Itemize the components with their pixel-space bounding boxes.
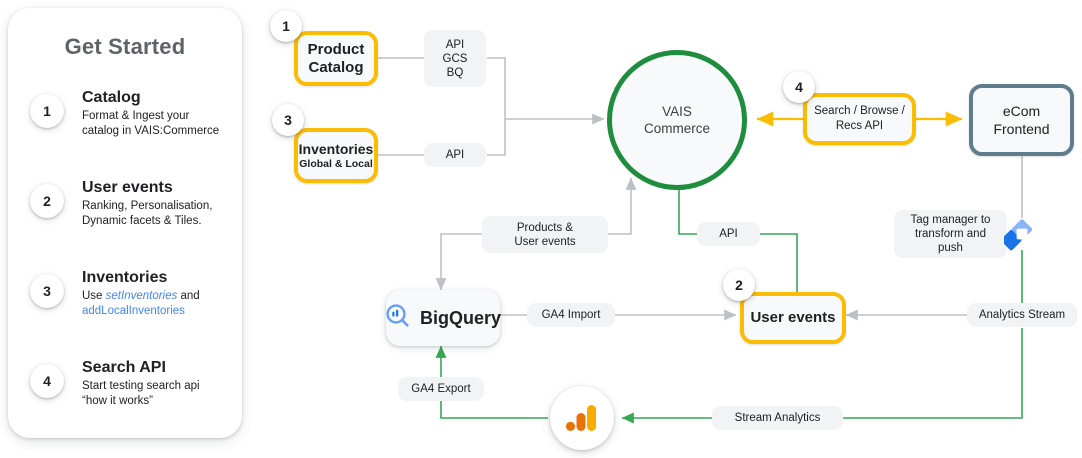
chip-ga4-import: GA4 Import (527, 303, 615, 327)
vais-line2: Commerce (644, 120, 710, 137)
chip-api-gcs-bq-line1: API (443, 38, 468, 52)
sidebar-step-search-api[interactable]: 4 Search API Start testing search api “h… (26, 358, 226, 432)
bigquery-icon (385, 303, 411, 334)
step-desc-catalog-line1: Format & Ingest your (82, 110, 189, 122)
product-catalog-line2: Catalog (308, 59, 365, 77)
google-analytics-icon (550, 386, 614, 450)
tag-manager-icon (1004, 216, 1040, 257)
search-api-line1: Search / Browse / (814, 104, 905, 119)
chip-ga4-export: GA4 Export (398, 377, 484, 401)
chip-tag-manager-line1: Tag manager to (911, 213, 991, 227)
vais-line1: VAIS (644, 103, 710, 120)
product-catalog-line1: Product (308, 41, 365, 59)
sidebar-step-user-events[interactable]: 2 User events Ranking, Personalisation, … (26, 178, 226, 252)
node-product-catalog[interactable]: Product Catalog (294, 31, 378, 86)
step-title-catalog: Catalog (82, 88, 238, 107)
chip-products-user-events-line1: Products & (514, 221, 575, 235)
diagram-badge-3: 3 (272, 104, 304, 136)
step-badge-3: 3 (30, 274, 64, 308)
node-vais-commerce[interactable]: VAIS Commerce (607, 50, 747, 190)
step-title-search-api: Search API (82, 358, 238, 377)
ecom-line1: eCom (993, 102, 1049, 120)
get-started-panel: Get Started 1 Catalog Format & Ingest yo… (8, 8, 242, 438)
ecom-line2: Frontend (993, 120, 1049, 138)
step-desc-inventories-prefix: Use (82, 290, 106, 302)
sidebar-step-inventories[interactable]: 3 Inventories Use setInventories and add… (26, 268, 226, 342)
panel-title: Get Started (8, 34, 242, 60)
diagram-badge-4: 4 (783, 71, 815, 103)
step-desc-inventories-mid: and (177, 290, 199, 302)
chip-api-gcs-bq-line3: BQ (443, 66, 468, 80)
step-title-user-events: User events (82, 178, 238, 197)
step-title-inventories: Inventories (82, 268, 238, 287)
chip-products-user-events-line2: User events (514, 235, 575, 249)
inventories-line1: Inventories (299, 140, 374, 158)
step-badge-2: 2 (30, 184, 64, 218)
sidebar-step-catalog[interactable]: 1 Catalog Format & Ingest your catalog i… (26, 88, 226, 162)
step-desc-search-api-line1: Start testing search api (82, 380, 200, 392)
chip-tag-manager-line3: push (911, 241, 991, 255)
diagram-canvas: Get Started 1 Catalog Format & Ingest yo… (0, 0, 1082, 458)
bigquery-label: BigQuery (420, 308, 501, 329)
step-desc-search-api-line2: “how it works” (82, 395, 153, 407)
chip-api-inventories: API (424, 143, 486, 167)
node-user-events[interactable]: User events (740, 292, 846, 344)
step-badge-4: 4 (30, 364, 64, 398)
chip-stream-analytics: Stream Analytics (712, 406, 843, 430)
node-bigquery[interactable]: BigQuery (386, 290, 500, 346)
inventories-line2: Global & Local (299, 158, 374, 171)
chip-api-gcs-bq-line2: GCS (443, 52, 468, 66)
step-desc-user-events-line2: Dynamic facets & Tiles. (82, 215, 202, 227)
step-desc-user-events-line1: Ranking, Personalisation, (82, 200, 212, 212)
chip-api-events: API (697, 222, 760, 246)
chip-tag-manager-note: Tag manager to transform and push (894, 210, 1007, 258)
link-set-inventories[interactable]: setInventories (106, 290, 178, 302)
step-desc-catalog-line2: catalog in VAIS:Commerce (82, 125, 219, 137)
chip-tag-manager-line2: transform and (911, 227, 991, 241)
node-ecom-frontend[interactable]: eCom Frontend (969, 84, 1074, 156)
node-search-browse-recs-api[interactable]: Search / Browse / Recs API (803, 93, 916, 145)
link-add-local-inventories[interactable]: addLocalInventories (82, 305, 185, 317)
node-inventories[interactable]: Inventories Global & Local (294, 128, 378, 183)
user-events-label: User events (750, 309, 835, 327)
step-badge-1: 1 (30, 94, 64, 128)
chip-api-gcs-bq: API GCS BQ (424, 30, 486, 87)
search-api-line2: Recs API (814, 119, 905, 134)
chip-products-user-events: Products & User events (482, 216, 608, 253)
diagram-badge-2: 2 (723, 269, 755, 301)
diagram-badge-1: 1 (270, 10, 302, 42)
chip-analytics-stream: Analytics Stream (967, 303, 1077, 327)
